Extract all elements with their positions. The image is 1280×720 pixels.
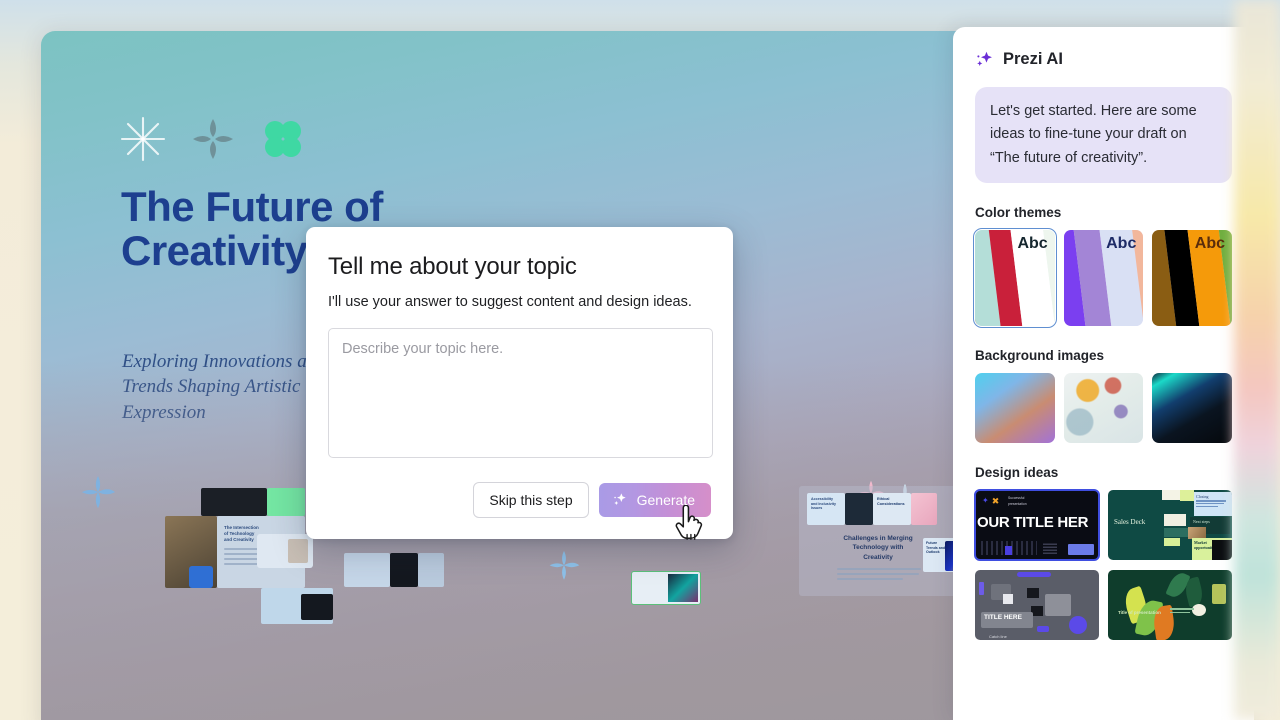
ai-panel-header: Prezi AI	[975, 50, 1232, 69]
design-idea-4[interactable]: Title of presentation	[1108, 570, 1232, 640]
canvas-thumb[interactable]: Accessibilityand InclusivityIssues	[807, 493, 845, 525]
design-idea-1[interactable]: ✦✖ Successful presentation OUR TITLE HER	[975, 490, 1099, 560]
color-theme-swatch-3[interactable]: Abc	[1152, 230, 1232, 326]
background-images-heading: Background images	[975, 348, 1232, 363]
background-image-2[interactable]	[1064, 373, 1144, 443]
cross-decor-icon	[79, 475, 117, 513]
app-root: The Future of Creativity Exploring Innov…	[0, 0, 1280, 720]
canvas-thumb[interactable]	[911, 493, 937, 525]
background-images-list	[975, 373, 1232, 443]
color-theme-abc-2: Abc	[1106, 235, 1136, 253]
modal-subtitle: I'll use your answer to suggest content …	[328, 294, 711, 310]
slide-decor-icons	[119, 115, 307, 163]
canvas-thumb[interactable]	[845, 493, 873, 525]
design-idea-3[interactable]: TITLE HERE Catch line	[975, 570, 1099, 640]
canvas-thumb[interactable]	[344, 553, 390, 587]
asterisk-burst-icon	[119, 115, 167, 163]
canvas-thumb[interactable]: EthicalConsiderations	[873, 493, 911, 525]
sparkle-icon	[975, 50, 994, 69]
design-idea-4-label: Title of presentation	[1118, 610, 1161, 617]
skip-this-step-button[interactable]: Skip this step	[473, 482, 588, 518]
design-ideas-list: ✦✖ Successful presentation OUR TITLE HER…	[975, 490, 1232, 640]
four-petal-cross-icon	[189, 115, 237, 163]
design-idea-1-label: OUR TITLE HER	[977, 514, 1088, 531]
canvas-thumb[interactable]	[201, 488, 267, 516]
canvas-thumb-cluster-mid[interactable]	[344, 553, 444, 593]
design-idea-2[interactable]: Sales Deck Closing Next steps Marketoppo…	[1108, 490, 1232, 560]
background-image-3[interactable]	[1152, 373, 1232, 443]
color-themes-heading: Color themes	[975, 205, 1232, 220]
canvas-thumb-cluster-right[interactable]: Accessibilityand InclusivityIssues Ethic…	[799, 486, 969, 596]
modal-title: Tell me about your topic	[328, 253, 711, 281]
canvas-thumb[interactable]	[390, 553, 418, 587]
ai-message-bubble: Let's get started. Here are some ideas t…	[975, 87, 1232, 183]
topic-input[interactable]	[328, 328, 713, 458]
ai-panel-title: Prezi AI	[1003, 50, 1063, 69]
color-themes-list: Abc Abc Ab	[975, 230, 1232, 326]
modal-actions: Skip this step Generate	[473, 482, 711, 518]
generate-button-label: Generate	[637, 492, 695, 508]
topic-modal: Tell me about your topic I'll use your a…	[306, 227, 733, 539]
design-ideas-heading: Design ideas	[975, 465, 1232, 480]
color-theme-abc-3: Abc	[1195, 235, 1225, 253]
canvas-thumb[interactable]	[418, 553, 444, 587]
canvas-thumb-green-frame[interactable]	[631, 571, 701, 605]
design-idea-3-label: TITLE HERE	[984, 614, 1022, 621]
canvas-thumb[interactable]	[301, 594, 333, 620]
color-theme-abc-1: Abc	[1017, 235, 1047, 253]
canvas-thumb-small[interactable]	[257, 534, 313, 568]
canvas-thumb[interactable]	[189, 566, 213, 588]
sparkle-icon	[612, 492, 628, 508]
clover-icon	[259, 115, 307, 163]
color-theme-swatch-2[interactable]: Abc	[1064, 230, 1144, 326]
background-image-1[interactable]	[975, 373, 1055, 443]
design-idea-2-label: Sales Deck	[1114, 518, 1145, 526]
cross-decor-icon	[547, 550, 581, 584]
color-theme-swatch-1[interactable]: Abc	[975, 230, 1055, 326]
prezi-ai-panel: Prezi AI Let's get started. Here are som…	[953, 27, 1254, 720]
generate-button[interactable]: Generate	[599, 483, 711, 517]
